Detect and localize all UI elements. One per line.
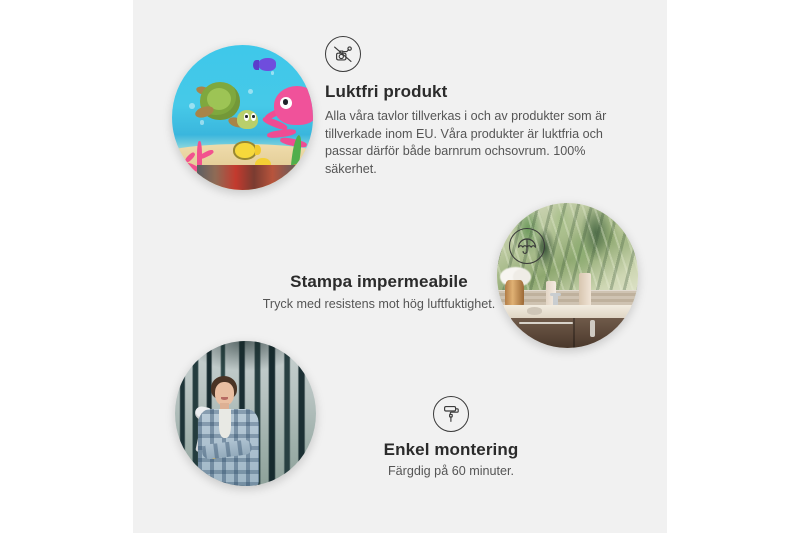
- white-tshirt: [219, 409, 231, 438]
- photo-bottom-strip: [197, 165, 299, 190]
- vanity-door-seam: [573, 318, 575, 348]
- feature-waterproof: Stampa impermeabile Tryck med resistens …: [209, 228, 549, 314]
- bubble: [271, 71, 275, 75]
- woman-paint-roller-forest-photo: [175, 341, 316, 486]
- octopus-eye: [280, 97, 292, 109]
- turtle-eye: [244, 113, 249, 121]
- octopus: [265, 86, 313, 150]
- turtle-eye: [251, 113, 256, 121]
- yellow-fish: [233, 141, 257, 160]
- product-feature-banner: Luktfri produkt Alla våra tavlor tillver…: [0, 0, 800, 533]
- no-fragrance-icon: [325, 36, 361, 72]
- feature-easy: Enkel montering Färgdig på 60 minuter.: [331, 396, 571, 481]
- coral-branch: [184, 152, 196, 164]
- feature-title: Luktfri produkt: [325, 82, 625, 102]
- feature-title: Enkel montering: [331, 440, 571, 460]
- umbrella-icon: [509, 228, 545, 264]
- feature-description: Tryck med resistens mot hög luftfuktighe…: [209, 296, 549, 314]
- forest-background: [175, 341, 316, 486]
- woman-face: [215, 382, 235, 405]
- feature-description: Alla våra tavlor tillverkas i och av pro…: [325, 108, 625, 178]
- underwater-cartoon-photo: [172, 45, 313, 190]
- content-panel: Luktfri produkt Alla våra tavlor tillver…: [133, 0, 667, 533]
- blue-fish: [258, 58, 276, 71]
- feature-title: Stampa impermeabile: [209, 272, 549, 292]
- feature-icon-row: [209, 228, 549, 264]
- paint-roller-icon: [433, 396, 469, 432]
- feature-icon-row: [331, 396, 571, 432]
- feature-description: Färgdig på 60 minuter.: [331, 463, 571, 481]
- octopus-head: [274, 86, 313, 126]
- sea-background: [172, 45, 313, 190]
- woman-figure: [195, 376, 271, 486]
- sea-turtle: [195, 80, 257, 132]
- feature-odourless: Luktfri produkt Alla våra tavlor tillver…: [325, 36, 625, 178]
- turtle-head: [237, 110, 258, 129]
